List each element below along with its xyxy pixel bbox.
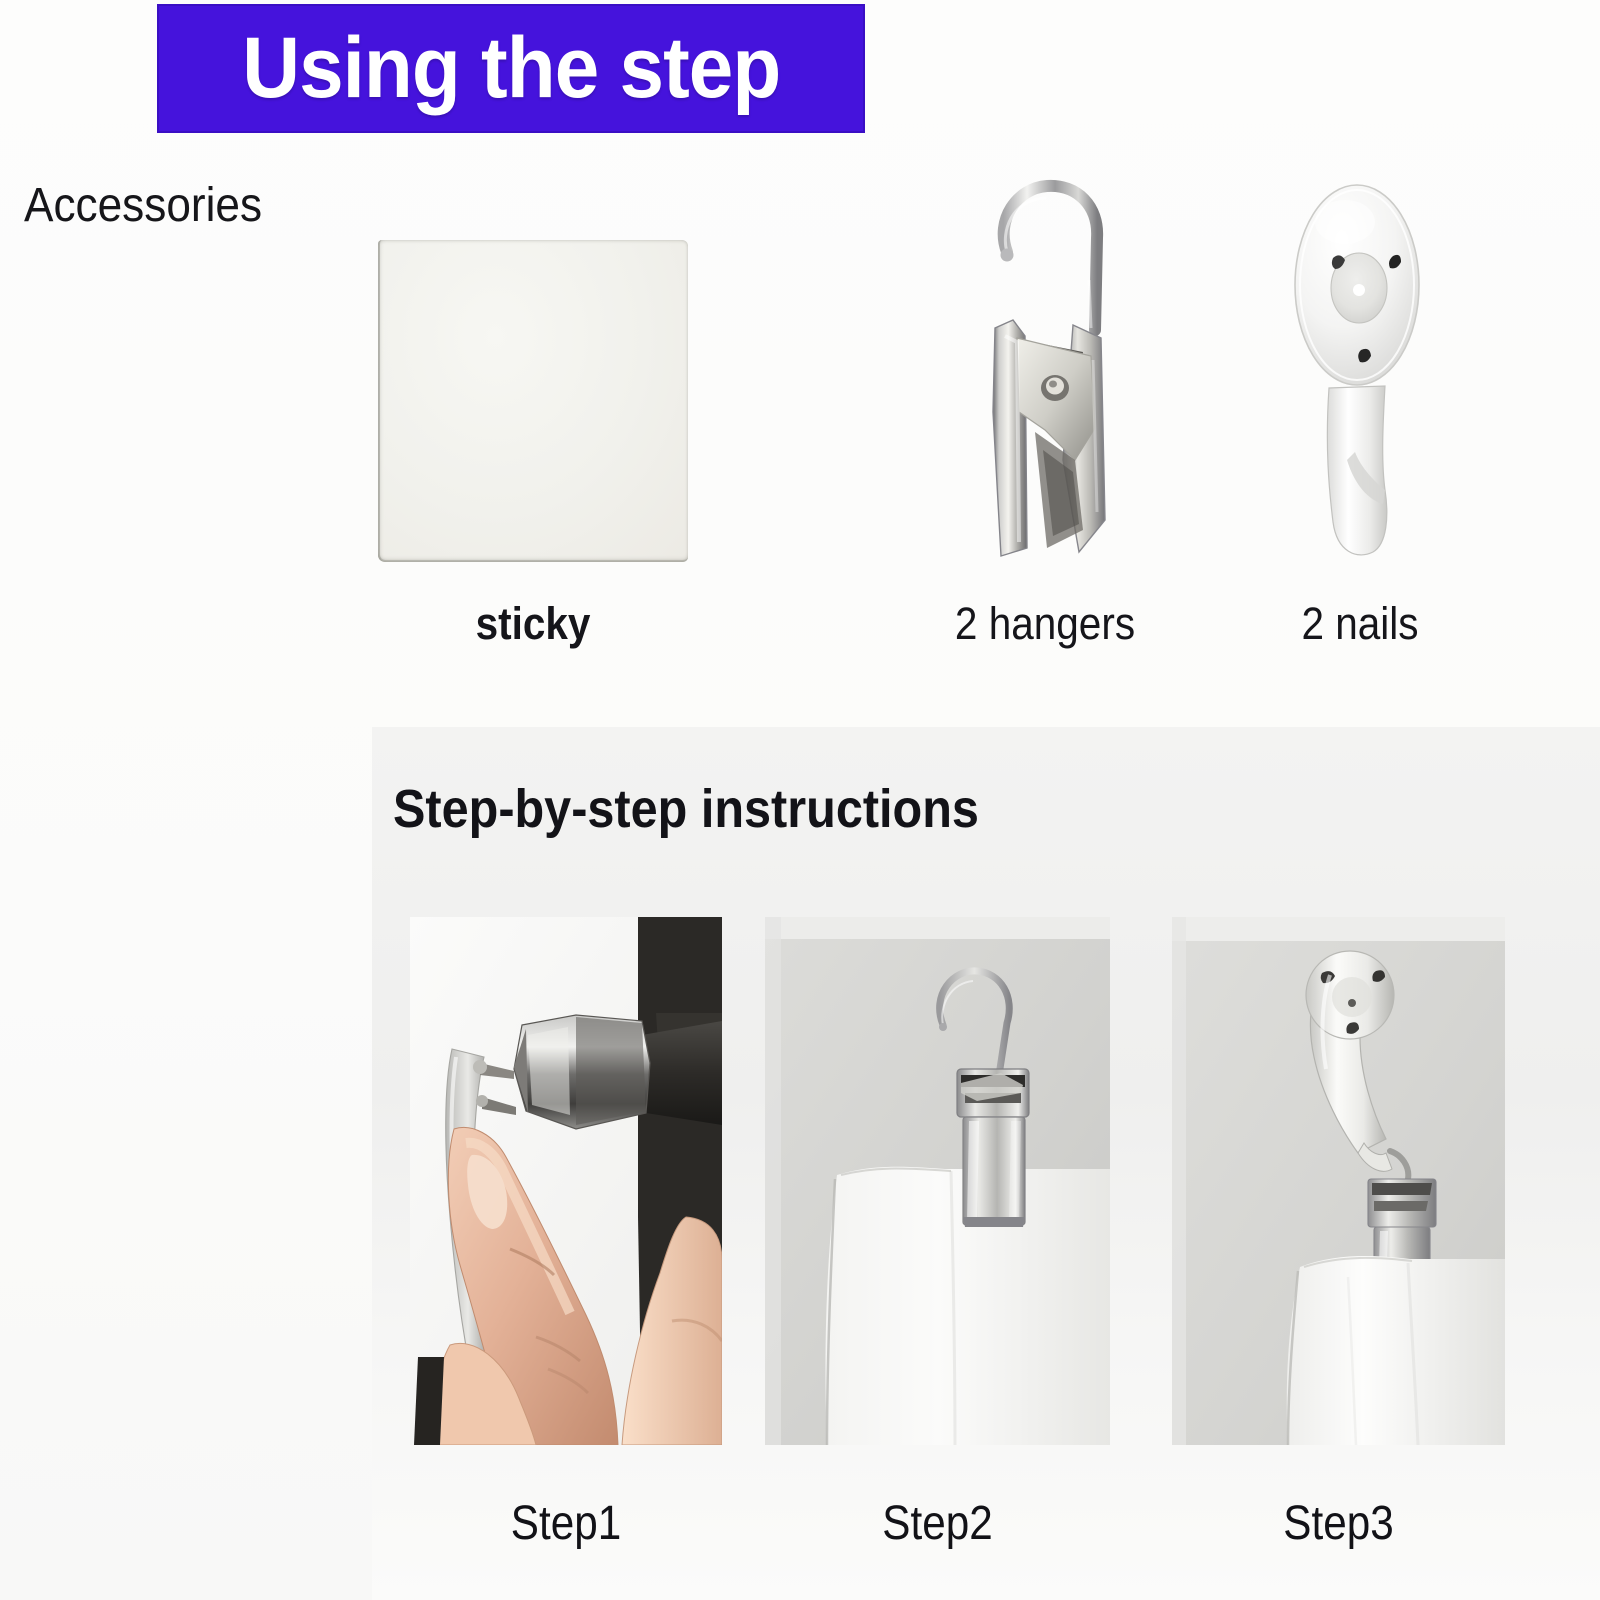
instructions-heading: Step-by-step instructions [393,778,979,840]
title-banner: Using the step [157,4,865,133]
adhesive-pad-icon [378,240,688,562]
hammering-nail-into-hook-photo [410,917,722,1445]
accessory-label-hangers: 2 hangers [919,598,1171,650]
clip-hanger-gripping-curtain-photo [765,917,1110,1445]
accessory-label-sticky: sticky [394,598,673,650]
hook-with-clip-holding-curtain-photo [1172,917,1505,1445]
step-2-label: Step2 [786,1496,1090,1551]
step-2-photo [765,917,1110,1445]
infographic-page: Using the step Accessories sticky [0,0,1600,1600]
accessories-heading: Accessories [24,178,262,233]
accessory-label-nails: 2 nails [1257,598,1464,650]
step-1-photo [410,917,722,1445]
page-title: Using the step [242,19,780,118]
clip-hanger-icon [955,160,1135,560]
step-1-label: Step1 [429,1496,704,1551]
wall-hook-nail-icon [1285,160,1435,570]
step-3-photo [1172,917,1505,1445]
step-3-label: Step3 [1192,1496,1485,1551]
